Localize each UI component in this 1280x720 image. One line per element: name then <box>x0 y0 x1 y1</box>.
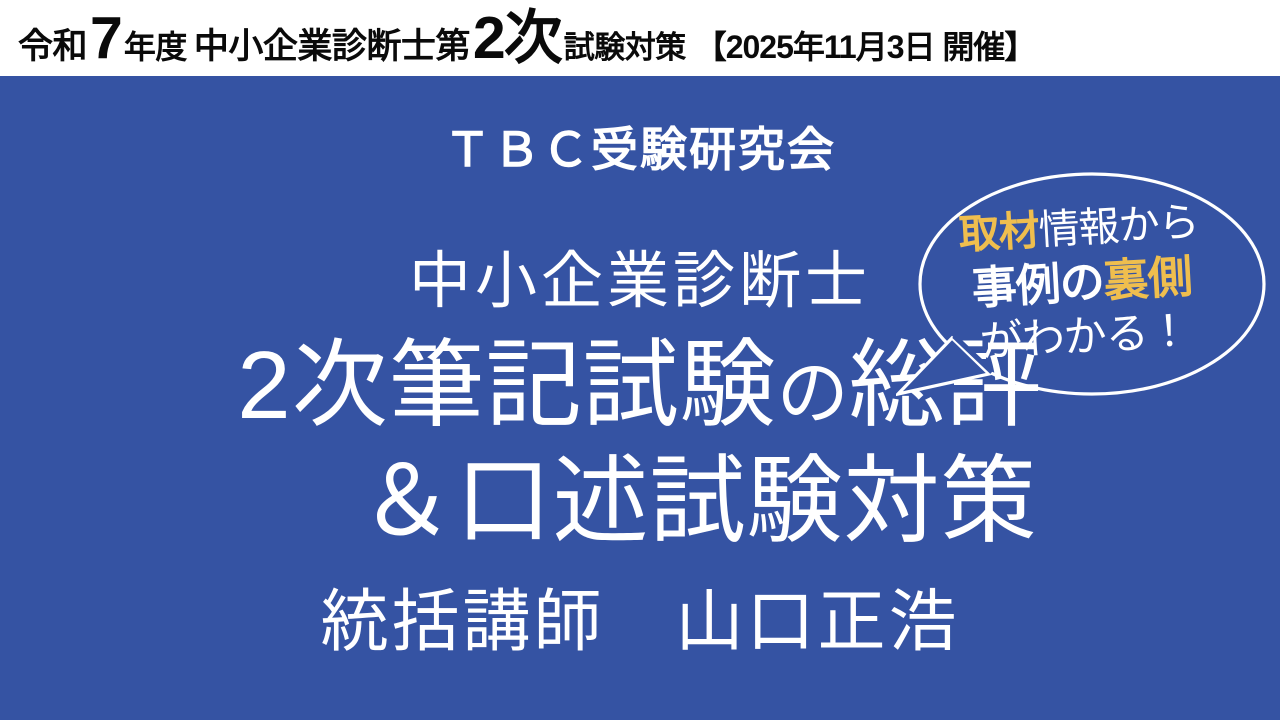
header-banner-text: 令和 7 年度 中小企業診断士第 2次 試験対策 【2025年11月3日 開催】 <box>0 9 1035 68</box>
exam-tail-label: 試験対策 <box>564 32 686 63</box>
speaker-line: 統括講師 山口正浩 <box>0 588 1280 656</box>
organization-name: ＴＢＣ受験研究会 <box>0 126 1280 173</box>
exam-round-label: 2次 <box>470 9 564 68</box>
exam-lead-label: 中小企業診断士第 <box>187 29 470 64</box>
bubble-line-1: 取材情報から <box>892 198 1266 260</box>
seminar-title-slide: 令和 7 年度 中小企業診断士第 2次 試験対策 【2025年11月3日 開催】… <box>0 0 1280 720</box>
bubble-line-2: 事例の裏側 <box>895 250 1269 316</box>
bubble-highlight-uragawa: 裏側 <box>1102 251 1193 307</box>
bubble-line-3: がわかる！ <box>898 306 1272 370</box>
bubble-line-3-text: がわかる！ <box>979 307 1191 367</box>
bubble-highlight-shuzai: 取材 <box>958 207 1040 257</box>
year-suffix: 年度 <box>124 31 187 63</box>
slide-body: ＴＢＣ受験研究会 中小企業診断士 2次筆記試験の総評 ＆口述試験対策 統括講師 … <box>0 76 1280 720</box>
year-number: 7 <box>87 9 124 68</box>
speech-bubble: 取材情報から 事例の裏側 がわかる！ <box>896 168 1268 408</box>
main-title-particle: の <box>777 354 849 434</box>
speech-bubble-text: 取材情報から 事例の裏側 がわかる！ <box>890 158 1275 418</box>
bubble-line-1-rest: 情報から <box>1037 198 1199 253</box>
main-title-line-2: ＆口述試験対策 <box>0 454 1280 550</box>
event-date-label: 【2025年11月3日 開催】 <box>686 31 1036 63</box>
main-title-prefix: 2次筆記試験 <box>237 332 776 439</box>
bubble-line-2-prefix: 事例の <box>970 256 1105 314</box>
era-label: 令和 <box>18 29 87 64</box>
header-banner: 令和 7 年度 中小企業診断士第 2次 試験対策 【2025年11月3日 開催】 <box>0 0 1280 76</box>
